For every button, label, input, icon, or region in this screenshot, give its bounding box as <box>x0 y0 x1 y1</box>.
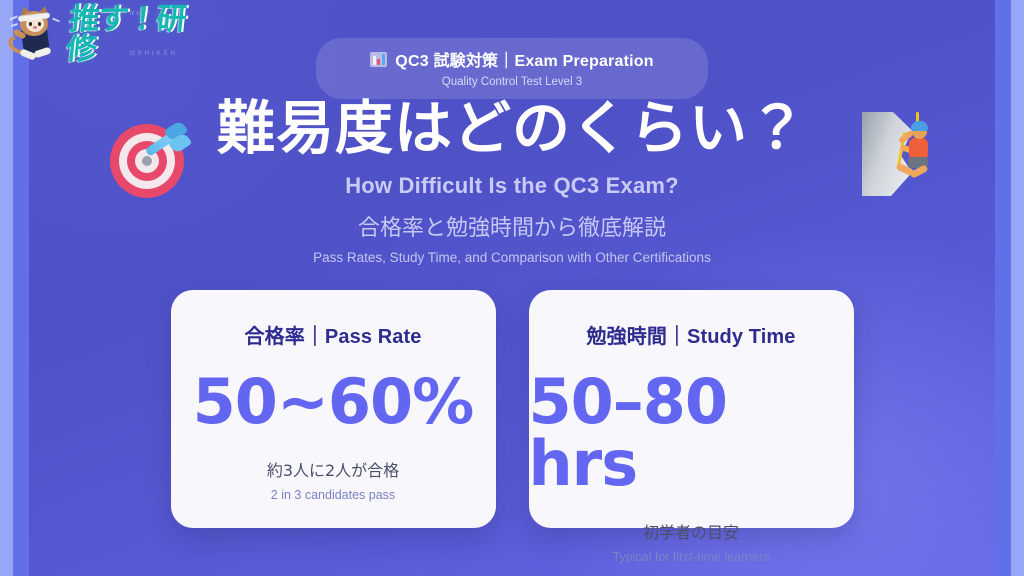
card-value: 50~60% <box>193 371 474 433</box>
card-title: 勉強時間｜Study Time <box>587 320 796 349</box>
card-note-english: 2 in 3 candidates pass <box>271 488 395 502</box>
stat-card-group: 合格率｜Pass Rate 50~60% 約3人に2人が合格 2 in 3 ca… <box>0 290 1024 528</box>
stat-card-study-time: 勉強時間｜Study Time 50–80 hrs 初学者の目安 Typical… <box>529 290 854 528</box>
page-subtitle-japanese: 合格率と勉強時間から徹底解説 <box>0 210 1024 242</box>
page-title: 難易度はどのくらい？ <box>0 98 1024 159</box>
exam-preparation-badge: QC3 試験対策｜Exam Preparation Quality Contro… <box>316 38 708 99</box>
card-note-japanese: 初学者の目安 <box>643 519 739 543</box>
page-title-english: How Difficult Is the QC3 Exam? <box>0 173 1024 199</box>
badge-title-row: QC3 試験対策｜Exam Preparation <box>316 47 708 71</box>
card-title: 合格率｜Pass Rate <box>245 320 422 349</box>
card-note-japanese: 約3人に2人が合格 <box>267 457 399 481</box>
stat-card-pass-rate: 合格率｜Pass Rate 50~60% 約3人に2人が合格 2 in 3 ca… <box>171 290 496 528</box>
card-value: 50–80 hrs <box>529 371 854 495</box>
slide-canvas: Next 推す！研修 OSHIKEN QC3 試験対策｜Exam Prepara… <box>0 0 1024 576</box>
bar-chart-icon <box>370 52 387 67</box>
badge-title: QC3 試験対策｜Exam Preparation <box>395 47 653 71</box>
logo-subtext: OSHIKEN <box>130 51 178 57</box>
page-subtitle-english: Pass Rates, Study Time, and Comparison w… <box>0 250 1024 265</box>
badge-subtitle: Quality Control Test Level 3 <box>316 76 708 88</box>
brand-logo[interactable]: Next 推す！研修 OSHIKEN <box>8 4 208 66</box>
card-note-english: Typical for first-time learners <box>613 550 770 564</box>
cat-mascot-icon <box>8 5 66 65</box>
